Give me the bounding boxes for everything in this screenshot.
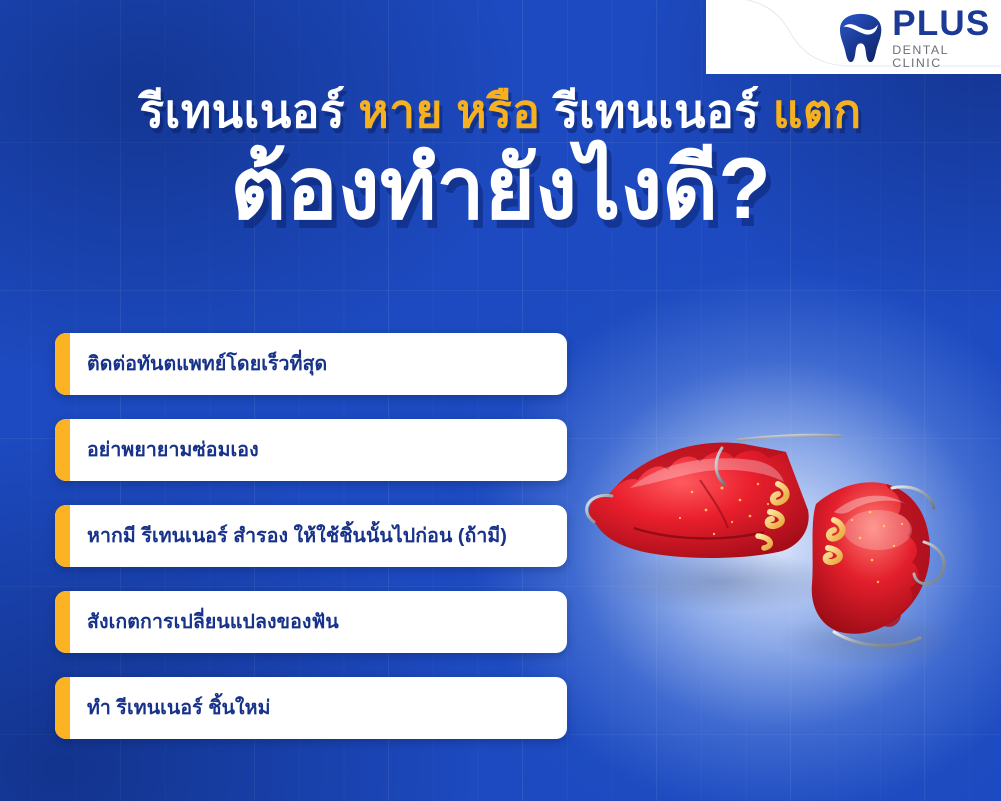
tip-card-label: ทำ รีเทนเนอร์ ชิ้นใหม่ — [87, 696, 271, 720]
headline-segment-2 — [443, 85, 456, 137]
retainer-left-piece — [587, 435, 840, 558]
tip-card-5[interactable]: ทำ รีเทนเนอร์ ชิ้นใหม่ — [55, 677, 567, 739]
tip-card-label: สังเกตการเปลี่ยนแปลงของฟัน — [87, 610, 339, 634]
logo-subtitle: DENTAL CLINIC — [892, 44, 1001, 69]
tip-card-3[interactable]: หากมี รีเทนเนอร์ สำรอง ให้ใช้ชิ้นนั้นไปก… — [55, 505, 567, 567]
headline-segment-5: แตก — [773, 85, 862, 137]
tip-card-accent-bar — [55, 419, 70, 481]
logo-text-block: PLUS DENTAL CLINIC — [892, 6, 1001, 69]
tip-card-2[interactable]: อย่าพยายามซ่อมเอง — [55, 419, 567, 481]
tip-card-accent-bar — [55, 333, 70, 395]
tip-card-4[interactable]: สังเกตการเปลี่ยนแปลงของฟัน — [55, 591, 567, 653]
brand-logo[interactable]: PLUS DENTAL CLINIC — [838, 6, 1001, 69]
headline-segment-1: หาย — [358, 85, 443, 137]
tip-card-label: หากมี รีเทนเนอร์ สำรอง ให้ใช้ชิ้นนั้นไปก… — [87, 524, 507, 548]
tip-card-accent-bar — [55, 677, 70, 739]
tip-card-label: อย่าพยายามซ่อมเอง — [87, 438, 259, 462]
tip-card-accent-bar — [55, 505, 70, 567]
infographic-canvas: PLUS DENTAL CLINIC รีเทนเนอร์ หาย หรือ ร… — [0, 0, 1001, 801]
headline-block: รีเทนเนอร์ หาย หรือ รีเทนเนอร์ แตก ต้องท… — [0, 86, 1001, 234]
tips-list: ติดต่อทันตแพทย์โดยเร็วที่สุดอย่าพยายามซ่… — [55, 333, 567, 739]
logo-title: PLUS — [892, 8, 1001, 40]
headline-line-2: ต้องทำยังไงดี? — [0, 145, 1001, 234]
headline-segment-0: รีเทนเนอร์ — [139, 85, 358, 137]
retainer-photo — [572, 392, 992, 694]
tooth-icon — [838, 12, 883, 64]
tip-card-accent-bar — [55, 591, 70, 653]
tip-card-1[interactable]: ติดต่อทันตแพทย์โดยเร็วที่สุด — [55, 333, 567, 395]
headline-line-1: รีเทนเนอร์ หาย หรือ รีเทนเนอร์ แตก — [0, 86, 1001, 137]
headline-segment-3: หรือ — [456, 85, 540, 137]
tip-card-label: ติดต่อทันตแพทย์โดยเร็วที่สุด — [87, 352, 327, 376]
headline-segment-4: รีเทนเนอร์ — [540, 85, 772, 137]
